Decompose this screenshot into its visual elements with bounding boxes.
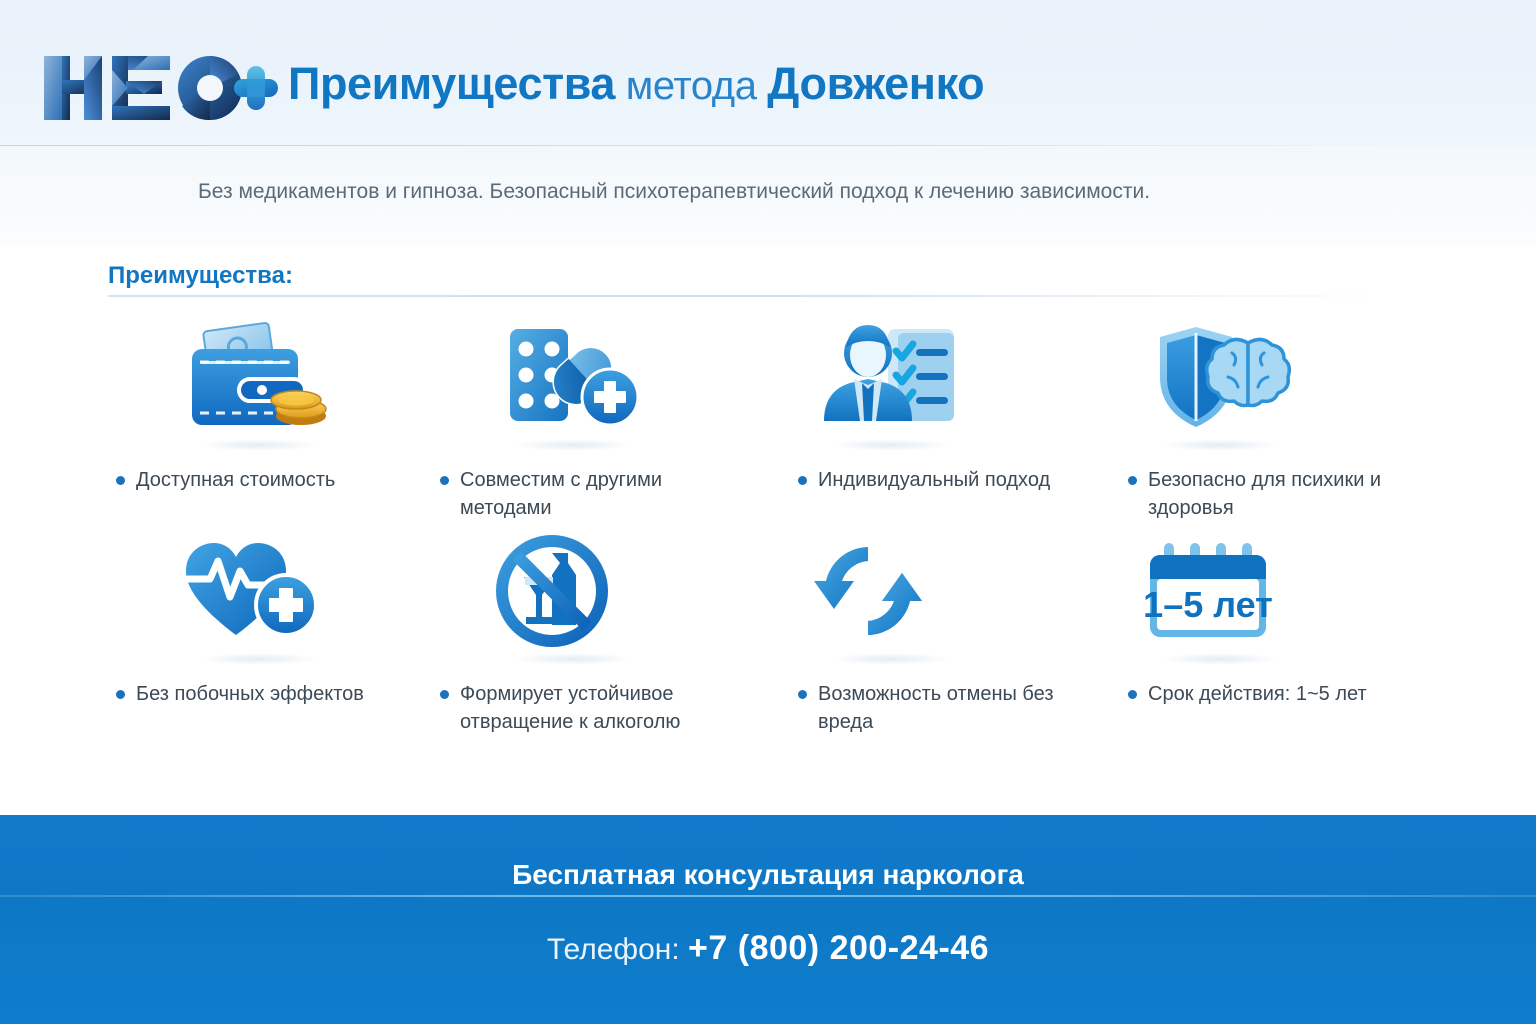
page-title: Преимущества метода Довженко — [288, 58, 984, 110]
feature-item: Возможность отмены без вреда — [764, 526, 1082, 740]
feature-label: Возможность отмены без вреда — [818, 680, 1080, 736]
subtitle: Без медикаментов и гипноза. Безопасный п… — [198, 180, 1150, 204]
pills-blister-plus-icon — [494, 321, 654, 444]
feature-item: Формирует устойчивое отвращение к алкого… — [432, 526, 764, 740]
feature-item: Без побочных эффектов — [100, 526, 432, 740]
no-alcohol-icon — [494, 535, 654, 658]
calendar-text: 1–5 лет — [1143, 584, 1273, 625]
bullet-icon — [116, 476, 125, 485]
bullet-icon — [440, 476, 449, 485]
bullet-icon — [798, 690, 807, 699]
feature-item: Безопасно для психики и здоровья — [1082, 312, 1440, 526]
features-grid: Доступная стоимость — [100, 312, 1440, 740]
feature-label: Формирует устойчивое отвращение к алкого… — [460, 680, 722, 736]
section-divider — [108, 295, 1438, 297]
reverse-arrows-icon — [810, 535, 970, 658]
feature-item: Совместим с другими методами — [432, 312, 764, 526]
neo-plus-logo — [38, 52, 278, 124]
bullet-icon — [1128, 690, 1137, 699]
footer-title: Бесплатная консультация нарколога — [0, 859, 1536, 891]
page-title-bold-2: Довженко — [767, 58, 984, 109]
feature-item: 1–5 лет Срок действия: 1~5 лет — [1082, 526, 1440, 740]
feature-label: Индивидуальный подход — [818, 466, 1050, 494]
bullet-icon — [440, 690, 449, 699]
feature-label: Доступная стоимость — [136, 466, 335, 494]
feature-label: Совместим с другими методами — [460, 466, 722, 522]
calendar-icon: 1–5 лет — [1140, 535, 1300, 658]
phone-number[interactable]: +7 (800) 200-24-46 — [688, 929, 989, 967]
heart-pulse-plus-icon — [178, 535, 338, 658]
page-title-bold-1: Преимущества — [288, 58, 615, 109]
section-heading: Преимущества: — [108, 262, 293, 290]
feature-label: Без побочных эффектов — [136, 680, 364, 708]
wallet-coins-icon — [178, 321, 338, 444]
page-title-light: метода — [615, 64, 767, 108]
shield-brain-icon — [1140, 321, 1300, 444]
bullet-icon — [116, 690, 125, 699]
bullet-icon — [798, 476, 807, 485]
doctor-checklist-icon — [810, 321, 970, 444]
footer-phone: Телефон: +7 (800) 200-24-46 — [0, 929, 1536, 968]
infographic-page: Преимущества метода Довженко Без медикам… — [0, 0, 1536, 1024]
footer-divider — [0, 895, 1536, 897]
bullet-icon — [1128, 476, 1137, 485]
footer-cta-band: Бесплатная консультация нарколога Телефо… — [0, 815, 1536, 1024]
phone-label: Телефон: — [547, 933, 680, 966]
feature-label: Срок действия: 1~5 лет — [1148, 680, 1367, 708]
feature-label: Безопасно для психики и здоровья — [1148, 466, 1410, 522]
feature-item: Индивидуальный подход — [764, 312, 1082, 526]
feature-item: Доступная стоимость — [100, 312, 432, 526]
